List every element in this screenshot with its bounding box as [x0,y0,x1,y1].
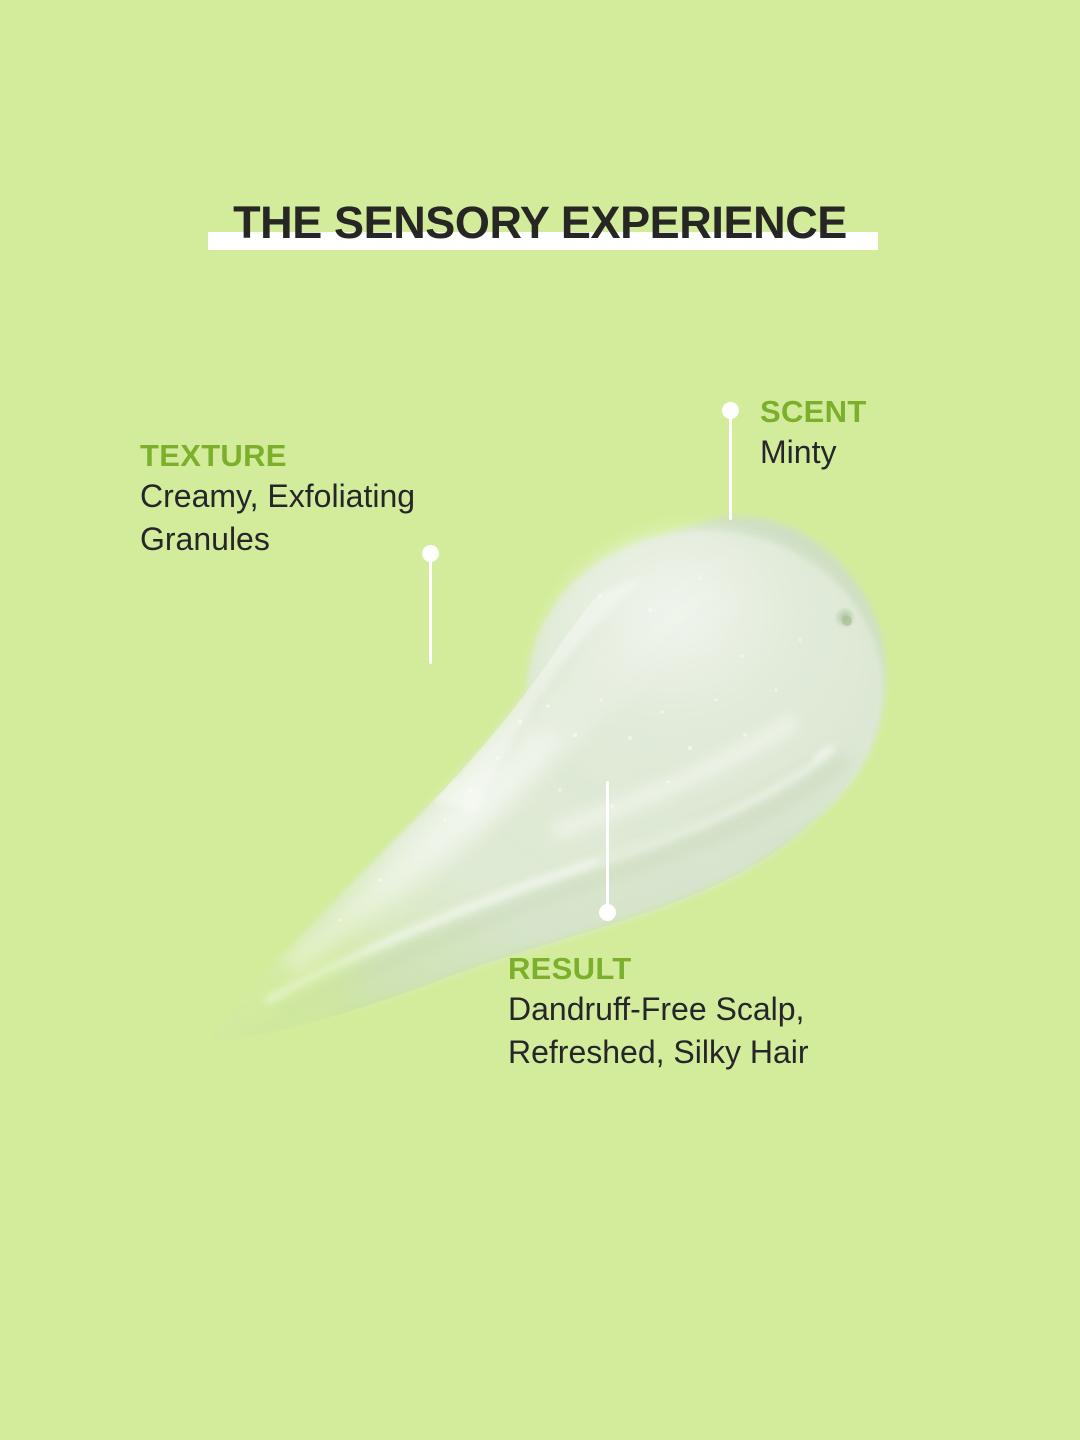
leader-line-texture [429,556,432,664]
callout-scent-value: Minty [760,431,867,474]
leader-dot-texture [422,545,439,562]
title-block: THE SENSORY EXPERIENCE [0,195,1080,265]
leader-dot-scent [722,402,739,419]
leader-line-result [606,781,609,907]
swatch-blob-head [527,525,883,850]
page-title: THE SENSORY EXPERIENCE [0,195,1080,251]
callout-scent-label: SCENT [760,393,867,431]
callout-result-label: RESULT [508,950,809,988]
poster-canvas: THE SENSORY EXPERIENCE TEXTURE Creamy, E… [0,0,1080,1440]
leader-line-scent [729,414,732,520]
swatch-tail-fade [150,915,370,1130]
leader-dot-result [599,904,616,921]
callout-texture-label: TEXTURE [140,437,415,475]
callout-scent: SCENT Minty [760,393,867,474]
callout-result-value: Dandruff-Free Scalp, Refreshed, Silky Ha… [508,988,809,1074]
callout-texture-value: Creamy, Exfoliating Granules [140,475,415,561]
swatch-dimple [834,608,856,630]
callout-texture: TEXTURE Creamy, Exfoliating Granules [140,437,415,561]
callout-result: RESULT Dandruff-Free Scalp, Refreshed, S… [508,950,809,1074]
